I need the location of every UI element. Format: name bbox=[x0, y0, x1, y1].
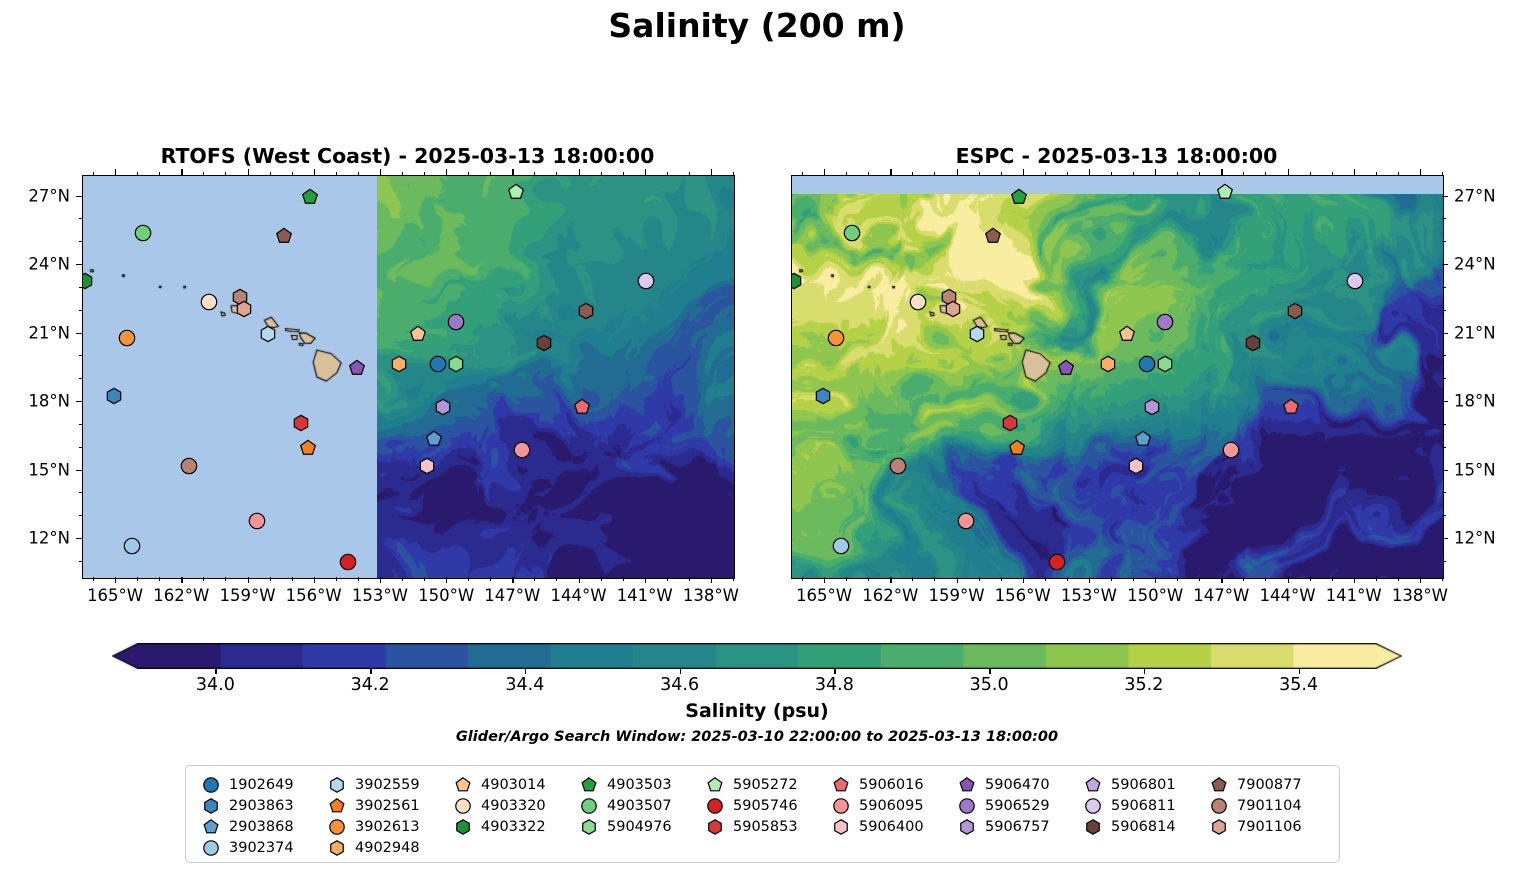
y-tick-label: 18°N bbox=[28, 392, 70, 411]
x-top-tickmark bbox=[248, 169, 249, 175]
y-tick-label: 21°N bbox=[28, 323, 70, 342]
x-top-minor-tickmark bbox=[1045, 172, 1046, 176]
legend-item-label: 4903322 bbox=[481, 819, 546, 835]
x-top-tickmark bbox=[1155, 169, 1156, 175]
float-marker-5906814[interactable] bbox=[1245, 335, 1262, 356]
x-top-tickmark bbox=[1288, 169, 1289, 175]
float-marker-5905746[interactable] bbox=[1048, 554, 1065, 575]
x-tickmark bbox=[579, 577, 580, 583]
x-tickmark bbox=[1288, 577, 1289, 583]
x-tickmark bbox=[1023, 577, 1024, 583]
x-tick-label: 147°W bbox=[484, 586, 540, 605]
x-minor-tickmark bbox=[846, 577, 847, 581]
legend-column-0: 1902649290386329038683902374 bbox=[200, 774, 294, 858]
legend-item-label: 4903320 bbox=[481, 798, 546, 814]
legend-item-4903014[interactable]: 4903014 bbox=[452, 774, 546, 795]
float-marker-5906529[interactable] bbox=[447, 314, 464, 335]
x-top-minor-tickmark bbox=[1243, 172, 1244, 176]
x-top-minor-tickmark bbox=[601, 172, 602, 176]
float-marker-icon bbox=[578, 795, 600, 816]
x-tickmark bbox=[181, 577, 182, 583]
x-top-minor-tickmark bbox=[358, 172, 359, 176]
legend-item-5904976[interactable]: 5904976 bbox=[578, 816, 672, 837]
legend-item-3902559[interactable]: 3902559 bbox=[326, 774, 420, 795]
float-marker-3902613[interactable] bbox=[828, 330, 845, 351]
x-top-tickmark bbox=[512, 169, 513, 175]
legend-item-label: 5906529 bbox=[985, 798, 1050, 814]
y-tick-label: 27°N bbox=[1454, 186, 1496, 205]
legend-column-4: 590527259057465905853 bbox=[704, 774, 798, 837]
x-minor-tickmark bbox=[1111, 577, 1112, 581]
x-tick-label: 138°W bbox=[1392, 586, 1448, 605]
x-top-tickmark bbox=[957, 169, 958, 175]
colorbar-tick-label: 35.4 bbox=[1279, 675, 1318, 695]
x-tick-label: 150°W bbox=[418, 586, 474, 605]
x-top-tickmark bbox=[1420, 169, 1421, 175]
float-marker-3902559[interactable] bbox=[969, 325, 986, 346]
float-marker-icon bbox=[326, 816, 348, 837]
float-marker-3902374[interactable] bbox=[123, 538, 140, 559]
float-marker-icon bbox=[326, 795, 348, 816]
land-overlay-espc bbox=[792, 176, 1443, 578]
float-marker-4902948[interactable] bbox=[390, 355, 407, 376]
legend-item-5906470[interactable]: 5906470 bbox=[956, 774, 1050, 795]
float-marker-icon bbox=[704, 816, 726, 837]
colorbar-tick-label: 34.6 bbox=[660, 675, 699, 695]
float-marker-icon bbox=[200, 816, 222, 837]
y-minor-tickmark bbox=[1442, 424, 1446, 425]
float-marker-5906095b[interactable] bbox=[958, 513, 975, 534]
colorbar-ticks: 34.034.234.434.634.835.035.235.4 bbox=[112, 672, 1402, 696]
x-minor-tickmark bbox=[1243, 577, 1244, 581]
x-minor-tickmark bbox=[336, 577, 337, 581]
y-tickmark bbox=[1442, 470, 1448, 471]
legend-item-label: 2903863 bbox=[229, 798, 294, 814]
x-tickmark bbox=[1420, 577, 1421, 583]
x-top-minor-tickmark bbox=[93, 172, 94, 176]
x-top-minor-tickmark bbox=[490, 172, 491, 176]
x-tick-label: 162°W bbox=[862, 586, 918, 605]
x-tickmark bbox=[890, 577, 891, 583]
legend-item-label: 7901106 bbox=[1237, 819, 1302, 835]
y-minor-tickmark bbox=[79, 355, 83, 356]
float-marker-5906400[interactable] bbox=[419, 458, 436, 479]
x-tick-label: 141°W bbox=[617, 586, 673, 605]
legend-item-4903320[interactable]: 4903320 bbox=[452, 795, 546, 816]
float-marker-4903507[interactable] bbox=[843, 225, 860, 246]
y-tickmark bbox=[76, 264, 82, 265]
x-tick-label: 153°W bbox=[352, 586, 408, 605]
x-top-minor-tickmark bbox=[292, 172, 293, 176]
x-minor-tickmark bbox=[402, 577, 403, 581]
float-marker-icon bbox=[200, 795, 222, 816]
x-top-minor-tickmark bbox=[934, 172, 935, 176]
y-tick-label: 21°N bbox=[1454, 323, 1496, 342]
y-tickmark bbox=[76, 196, 82, 197]
x-tickmark bbox=[115, 577, 116, 583]
colorbar-tickmark bbox=[834, 668, 835, 674]
float-marker-2903863[interactable] bbox=[814, 387, 831, 408]
colorbar-tickmark bbox=[370, 668, 371, 674]
legend-item-label: 5906400 bbox=[859, 819, 924, 835]
legend-item-4902948[interactable]: 4902948 bbox=[326, 837, 420, 858]
float-marker-5904976[interactable] bbox=[447, 355, 464, 376]
x-minor-tickmark bbox=[934, 577, 935, 581]
x-top-minor-tickmark bbox=[623, 172, 624, 176]
colorbar-tickmark bbox=[215, 668, 216, 674]
float-marker-icon bbox=[956, 816, 978, 837]
colorbar-tickmark bbox=[1144, 668, 1145, 674]
float-marker-5905272[interactable] bbox=[1216, 184, 1233, 205]
x-top-minor-tickmark bbox=[846, 172, 847, 176]
x-top-minor-tickmark bbox=[468, 172, 469, 176]
float-marker-5906757[interactable] bbox=[1143, 398, 1160, 419]
legend-item-2903863[interactable]: 2903863 bbox=[200, 795, 294, 816]
y-minor-tickmark bbox=[1442, 378, 1446, 379]
float-marker-7901106[interactable] bbox=[236, 300, 253, 321]
float-marker-4902948[interactable] bbox=[1099, 355, 1116, 376]
x-tickmark bbox=[1354, 577, 1355, 583]
float-marker-icon bbox=[1208, 774, 1230, 795]
float-marker-5906529[interactable] bbox=[1156, 314, 1173, 335]
legend-item-label: 5905272 bbox=[733, 777, 798, 793]
float-marker-4903507[interactable] bbox=[134, 225, 151, 246]
x-top-minor-tickmark bbox=[689, 172, 690, 176]
x-tick-label: 153°W bbox=[1061, 586, 1117, 605]
legend-item-label: 7900877 bbox=[1237, 777, 1302, 793]
colorbar-tick-label: 34.2 bbox=[351, 675, 390, 695]
y-minor-tickmark bbox=[79, 218, 83, 219]
x-minor-tickmark bbox=[137, 577, 138, 581]
legend-item-5906757[interactable]: 5906757 bbox=[956, 816, 1050, 837]
y-tickmark bbox=[1442, 333, 1448, 334]
float-marker-7901104b[interactable] bbox=[180, 458, 197, 479]
x-top-minor-tickmark bbox=[868, 172, 869, 176]
x-top-minor-tickmark bbox=[1177, 172, 1178, 176]
colorbar-tick-label: 34.8 bbox=[815, 675, 854, 695]
float-marker-icon bbox=[578, 774, 600, 795]
float-marker-5906470[interactable] bbox=[348, 360, 365, 381]
y-tick-label: 12°N bbox=[28, 529, 70, 548]
y-minor-tickmark bbox=[79, 492, 83, 493]
search-window-text: Glider/Argo Search Window: 2025-03-10 22… bbox=[0, 729, 1514, 745]
x-top-tickmark bbox=[1354, 169, 1355, 175]
y-tick-label: 18°N bbox=[1454, 392, 1496, 411]
float-marker-icon bbox=[1082, 816, 1104, 837]
x-top-minor-tickmark bbox=[424, 172, 425, 176]
legend-item-5906529[interactable]: 5906529 bbox=[956, 795, 1050, 816]
land-overlay-rtofs bbox=[83, 176, 734, 578]
colorbar-tick-label: 35.0 bbox=[970, 675, 1009, 695]
x-tickmark bbox=[512, 577, 513, 583]
float-marker-5905853[interactable] bbox=[1002, 414, 1019, 435]
x-tick-label: 144°W bbox=[1259, 586, 1315, 605]
x-tick-label: 165°W bbox=[796, 586, 852, 605]
legend-item-5905746[interactable]: 5905746 bbox=[704, 795, 798, 816]
float-marker-icon bbox=[452, 795, 474, 816]
y-minor-tickmark bbox=[79, 424, 83, 425]
float-marker-5906757[interactable] bbox=[434, 398, 451, 419]
float-marker-icon bbox=[1082, 795, 1104, 816]
x-tickmark bbox=[824, 577, 825, 583]
legend-column-2: 490301449033204903322 bbox=[452, 774, 546, 837]
x-top-minor-tickmark bbox=[402, 172, 403, 176]
x-top-tickmark bbox=[1023, 169, 1024, 175]
x-minor-tickmark bbox=[225, 577, 226, 581]
legend-item-7900877[interactable]: 7900877 bbox=[1208, 774, 1302, 795]
x-top-minor-tickmark bbox=[1111, 172, 1112, 176]
legend-item-7901104[interactable]: 7901104 bbox=[1208, 795, 1302, 816]
float-marker-icon bbox=[956, 774, 978, 795]
float-marker-4903320[interactable] bbox=[909, 293, 926, 314]
y-minor-tickmark bbox=[1442, 492, 1446, 493]
y-tick-label: 27°N bbox=[28, 186, 70, 205]
float-marker-5906814[interactable] bbox=[536, 335, 553, 356]
legend-item-label: 1902649 bbox=[229, 777, 294, 793]
legend-item-label: 5906095 bbox=[859, 798, 924, 814]
float-marker-5904976[interactable] bbox=[1156, 355, 1173, 376]
x-minor-tickmark bbox=[159, 577, 160, 581]
float-marker-4903503[interactable] bbox=[1011, 188, 1028, 209]
float-marker-4903320[interactable] bbox=[200, 293, 217, 314]
x-top-minor-tickmark bbox=[270, 172, 271, 176]
float-marker-1902649[interactable] bbox=[430, 355, 447, 376]
y-tickmark bbox=[76, 538, 82, 539]
legend-item-label: 4902948 bbox=[355, 840, 420, 856]
legend-item-3902374[interactable]: 3902374 bbox=[200, 837, 294, 858]
y-minor-tickmark bbox=[79, 561, 83, 562]
x-minor-tickmark bbox=[270, 577, 271, 581]
legend-item-4903503[interactable]: 4903503 bbox=[578, 774, 672, 795]
colorbar-tickmark bbox=[1299, 668, 1300, 674]
float-marker-5905853[interactable] bbox=[293, 414, 310, 435]
y-minor-tickmark bbox=[79, 310, 83, 311]
x-minor-tickmark bbox=[1067, 577, 1068, 581]
float-marker-7900877b[interactable] bbox=[578, 303, 595, 324]
float-marker-7900877[interactable] bbox=[275, 227, 292, 248]
legend-item-5906814[interactable]: 5906814 bbox=[1082, 816, 1176, 837]
x-minor-tickmark bbox=[1001, 577, 1002, 581]
x-top-minor-tickmark bbox=[912, 172, 913, 176]
legend-item-5905272[interactable]: 5905272 bbox=[704, 774, 798, 795]
x-minor-tickmark bbox=[1177, 577, 1178, 581]
x-top-minor-tickmark bbox=[1067, 172, 1068, 176]
float-marker-5905746[interactable] bbox=[339, 554, 356, 575]
y-tickmark bbox=[1442, 264, 1448, 265]
y-minor-tickmark bbox=[79, 447, 83, 448]
float-marker-2903868[interactable] bbox=[425, 430, 442, 451]
float-marker-3902561[interactable] bbox=[300, 440, 317, 461]
legend-item-7901106[interactable]: 7901106 bbox=[1208, 816, 1302, 837]
legend-item-4903507[interactable]: 4903507 bbox=[578, 795, 672, 816]
legend-item-5906400[interactable]: 5906400 bbox=[830, 816, 924, 837]
y-minor-tickmark bbox=[1442, 218, 1446, 219]
float-marker-4903014[interactable] bbox=[410, 325, 427, 346]
y-minor-tickmark bbox=[79, 241, 83, 242]
float-marker-4903322[interactable] bbox=[82, 273, 94, 294]
y-tick-label: 12°N bbox=[1454, 529, 1496, 548]
x-tickmark bbox=[957, 577, 958, 583]
x-tickmark bbox=[711, 577, 712, 583]
float-marker-2903863[interactable] bbox=[105, 387, 122, 408]
x-minor-tickmark bbox=[601, 577, 602, 581]
y-minor-tickmark bbox=[1442, 515, 1446, 516]
legend-item-5906016[interactable]: 5906016 bbox=[830, 774, 924, 795]
legend-item-2903868[interactable]: 2903868 bbox=[200, 816, 294, 837]
float-marker-5906016[interactable] bbox=[573, 398, 590, 419]
page-title: Salinity (200 m) bbox=[0, 6, 1514, 45]
float-marker-1902649[interactable] bbox=[1139, 355, 1156, 376]
colorbar bbox=[112, 643, 1402, 669]
x-minor-tickmark bbox=[868, 577, 869, 581]
float-marker-3902561[interactable] bbox=[1009, 440, 1026, 461]
x-minor-tickmark bbox=[1376, 577, 1377, 581]
map-panel-espc[interactable] bbox=[791, 175, 1444, 579]
float-marker-icon bbox=[830, 795, 852, 816]
x-top-minor-tickmark bbox=[1332, 172, 1333, 176]
x-top-tickmark bbox=[824, 169, 825, 175]
float-marker-5906400[interactable] bbox=[1128, 458, 1145, 479]
float-marker-7901106[interactable] bbox=[945, 300, 962, 321]
x-tick-label: 159°W bbox=[219, 586, 275, 605]
legend-column-7: 590680159068115906814 bbox=[1082, 774, 1176, 837]
float-marker-icon bbox=[1082, 774, 1104, 795]
legend-item-5905853[interactable]: 5905853 bbox=[704, 816, 798, 837]
x-top-minor-tickmark bbox=[203, 172, 204, 176]
float-marker-7901104b[interactable] bbox=[889, 458, 906, 479]
x-minor-tickmark bbox=[1199, 577, 1200, 581]
map-panel-rtofs[interactable] bbox=[82, 175, 735, 579]
x-top-minor-tickmark bbox=[534, 172, 535, 176]
x-minor-tickmark bbox=[468, 577, 469, 581]
x-tickmark bbox=[314, 577, 315, 583]
x-top-tickmark bbox=[314, 169, 315, 175]
x-minor-tickmark bbox=[292, 577, 293, 581]
y-minor-tickmark bbox=[79, 378, 83, 379]
panel-title-rtofs: RTOFS (West Coast) - 2025-03-13 18:00:00 bbox=[82, 144, 733, 168]
x-minor-tickmark bbox=[1265, 577, 1266, 581]
y-tickmark bbox=[76, 470, 82, 471]
x-minor-tickmark bbox=[1133, 577, 1134, 581]
legend-item-label: 5906016 bbox=[859, 777, 924, 793]
x-top-minor-tickmark bbox=[667, 172, 668, 176]
float-marker-icon bbox=[704, 795, 726, 816]
y-tickmark bbox=[76, 333, 82, 334]
legend-item-label: 4903503 bbox=[607, 777, 672, 793]
float-marker-5905272[interactable] bbox=[507, 184, 524, 205]
x-tickmark bbox=[1221, 577, 1222, 583]
float-marker-3902559[interactable] bbox=[260, 325, 277, 346]
legend-item-label: 5904976 bbox=[607, 819, 672, 835]
float-marker-icon bbox=[452, 816, 474, 837]
x-top-minor-tickmark bbox=[556, 172, 557, 176]
colorbar-tick-label: 34.0 bbox=[196, 675, 235, 695]
x-top-tickmark bbox=[446, 169, 447, 175]
x-minor-tickmark bbox=[1332, 577, 1333, 581]
legend-item-label: 5905853 bbox=[733, 819, 798, 835]
legend-item-1902649[interactable]: 1902649 bbox=[200, 774, 294, 795]
x-top-tickmark bbox=[115, 169, 116, 175]
x-tick-label: 138°W bbox=[683, 586, 739, 605]
x-top-minor-tickmark bbox=[1199, 172, 1200, 176]
float-marker-5906095b[interactable] bbox=[249, 513, 266, 534]
float-marker-icon bbox=[1208, 816, 1230, 837]
x-tick-label: 156°W bbox=[995, 586, 1051, 605]
float-marker-3902613[interactable] bbox=[119, 330, 136, 351]
float-marker-4903014[interactable] bbox=[1119, 325, 1136, 346]
float-marker-5906811[interactable] bbox=[1346, 273, 1363, 294]
float-marker-5906470[interactable] bbox=[1057, 360, 1074, 381]
float-marker-7900877b[interactable] bbox=[1287, 303, 1304, 324]
y-tick-label: 15°N bbox=[1454, 460, 1496, 479]
x-minor-tickmark bbox=[623, 577, 624, 581]
x-tickmark bbox=[1089, 577, 1090, 583]
x-minor-tickmark bbox=[979, 577, 980, 581]
x-top-minor-tickmark bbox=[1398, 172, 1399, 176]
x-minor-tickmark bbox=[667, 577, 668, 581]
legend-item-label: 3902559 bbox=[355, 777, 420, 793]
float-marker-4903503[interactable] bbox=[302, 188, 319, 209]
legend-column-8: 790087779011047901106 bbox=[1208, 774, 1302, 837]
y-minor-tickmark bbox=[1442, 355, 1446, 356]
legend-item-3902561[interactable]: 3902561 bbox=[326, 795, 420, 816]
float-marker-5906095[interactable] bbox=[514, 442, 531, 463]
y-minor-tickmark bbox=[79, 287, 83, 288]
legend-item-5906801[interactable]: 5906801 bbox=[1082, 774, 1176, 795]
legend-item-label: 3902561 bbox=[355, 798, 420, 814]
x-top-minor-tickmark bbox=[1376, 172, 1377, 176]
legend-item-3902613[interactable]: 3902613 bbox=[326, 816, 420, 837]
float-marker-5906811[interactable] bbox=[637, 273, 654, 294]
x-minor-tickmark bbox=[1442, 577, 1443, 581]
x-tick-label: 159°W bbox=[928, 586, 984, 605]
legend-item-label: 5906757 bbox=[985, 819, 1050, 835]
float-marker-icon bbox=[200, 837, 222, 858]
float-marker-icon bbox=[704, 774, 726, 795]
legend-column-1: 3902559390256139026134902948 bbox=[326, 774, 420, 858]
legend-item-5906095[interactable]: 5906095 bbox=[830, 795, 924, 816]
x-top-tickmark bbox=[181, 169, 182, 175]
x-minor-tickmark bbox=[358, 577, 359, 581]
legend-item-label: 4903014 bbox=[481, 777, 546, 793]
float-marker-5906016[interactable] bbox=[1282, 398, 1299, 419]
colorbar-tick-label: 35.2 bbox=[1124, 675, 1163, 695]
float-marker-3902374[interactable] bbox=[832, 538, 849, 559]
float-marker-7900877[interactable] bbox=[984, 227, 1001, 248]
legend-item-4903322[interactable]: 4903322 bbox=[452, 816, 546, 837]
x-tick-label: 162°W bbox=[153, 586, 209, 605]
x-minor-tickmark bbox=[203, 577, 204, 581]
x-minor-tickmark bbox=[912, 577, 913, 581]
legend-item-label: 5906811 bbox=[1111, 798, 1176, 814]
legend-item-5906811[interactable]: 5906811 bbox=[1082, 795, 1176, 816]
float-legend[interactable]: 1902649290386329038683902374390255939025… bbox=[185, 765, 1340, 863]
float-marker-icon bbox=[956, 795, 978, 816]
x-top-minor-tickmark bbox=[1133, 172, 1134, 176]
x-top-minor-tickmark bbox=[336, 172, 337, 176]
y-minor-tickmark bbox=[1442, 287, 1446, 288]
x-minor-tickmark bbox=[1310, 577, 1311, 581]
float-marker-4903322[interactable] bbox=[791, 273, 803, 294]
float-marker-2903868[interactable] bbox=[1134, 430, 1151, 451]
float-marker-icon bbox=[452, 774, 474, 795]
y-minor-tickmark bbox=[1442, 241, 1446, 242]
y-tick-label: 24°N bbox=[1454, 255, 1496, 274]
float-marker-5906095[interactable] bbox=[1223, 442, 1240, 463]
x-minor-tickmark bbox=[1045, 577, 1046, 581]
x-top-minor-tickmark bbox=[802, 172, 803, 176]
legend-item-label: 5906814 bbox=[1111, 819, 1176, 835]
